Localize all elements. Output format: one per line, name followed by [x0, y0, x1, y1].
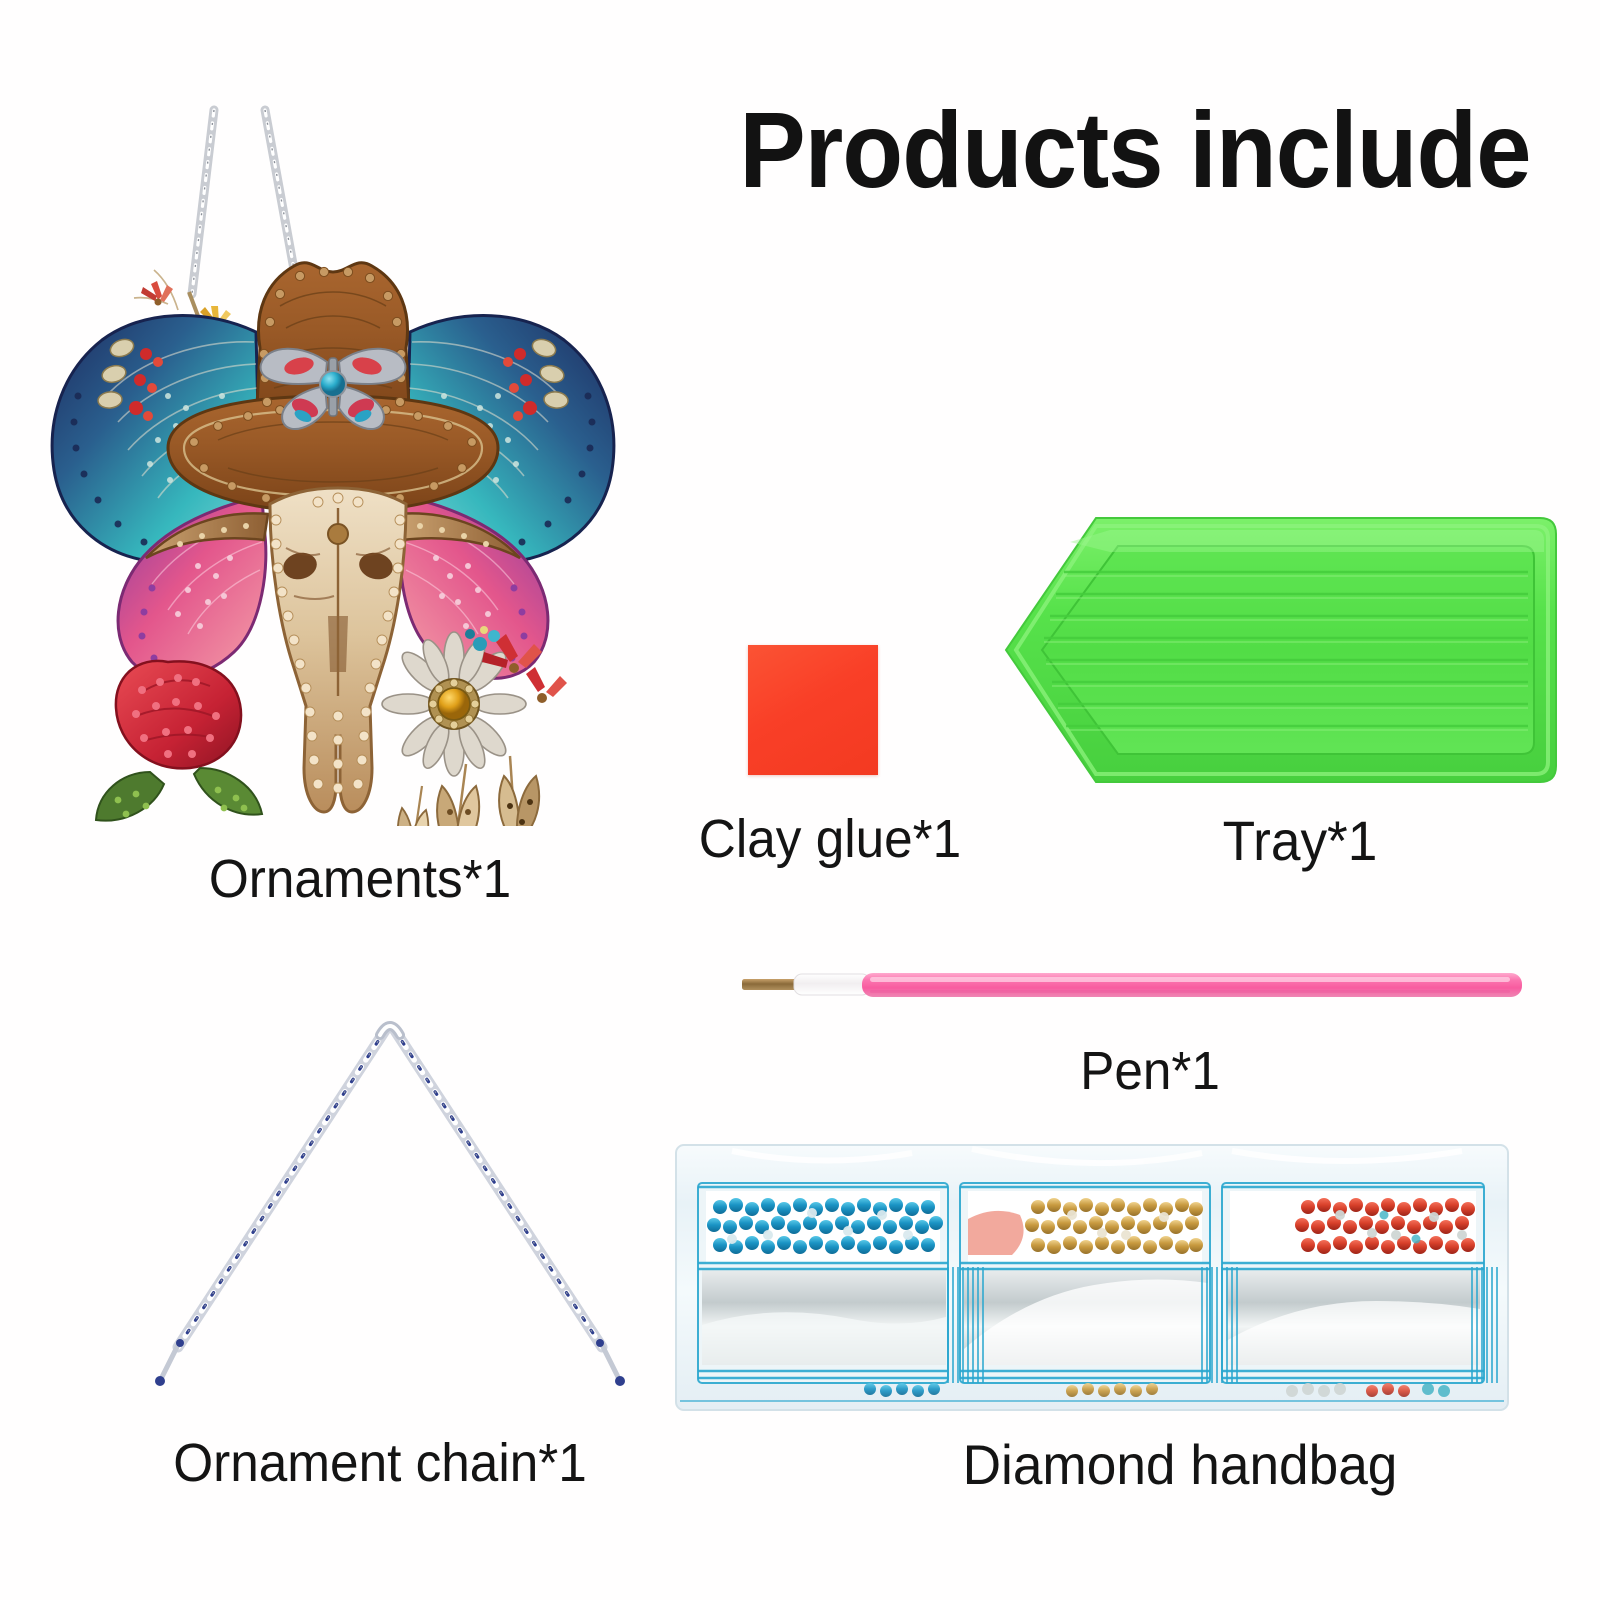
ornaments-image — [18, 96, 648, 826]
caption-ornament-chain: Ornament chain*1 — [57, 1432, 703, 1494]
pen-image — [740, 955, 1530, 1015]
bead-pouch-blue — [698, 1183, 948, 1383]
bead-pouch-gold — [960, 1183, 1210, 1383]
clay-glue-icon — [748, 645, 878, 775]
product-include-poster: Products include — [0, 0, 1600, 1600]
hanging-chain-icon — [140, 995, 640, 1405]
caption-clay-glue: Clay glue*1 — [631, 808, 1030, 870]
hanging-feathers — [398, 756, 539, 826]
rhinestone-bag-icon — [672, 1135, 1512, 1420]
bull-skull — [270, 488, 406, 812]
caption-pen: Pen*1 — [913, 1040, 1388, 1102]
chain-end-right — [596, 1339, 625, 1386]
diamond-tray-icon — [1000, 500, 1560, 800]
caption-diamond-handbag: Diamond handbag — [886, 1432, 1475, 1497]
bead-pouch-red — [1222, 1183, 1484, 1383]
page-title: Products include — [726, 96, 1545, 204]
tray-image — [1000, 500, 1560, 800]
red-rose — [96, 661, 262, 821]
ornament-artwork-icon — [18, 96, 648, 826]
diamond-handbag-image — [672, 1135, 1512, 1420]
drill-pen-icon — [740, 955, 1530, 1015]
ornament-chain-image — [140, 995, 640, 1405]
hanging-chain-left — [192, 110, 214, 294]
caption-tray: Tray*1 — [1072, 808, 1528, 873]
chain-end-left — [155, 1339, 184, 1386]
caption-ornaments: Ornaments*1 — [75, 848, 645, 910]
